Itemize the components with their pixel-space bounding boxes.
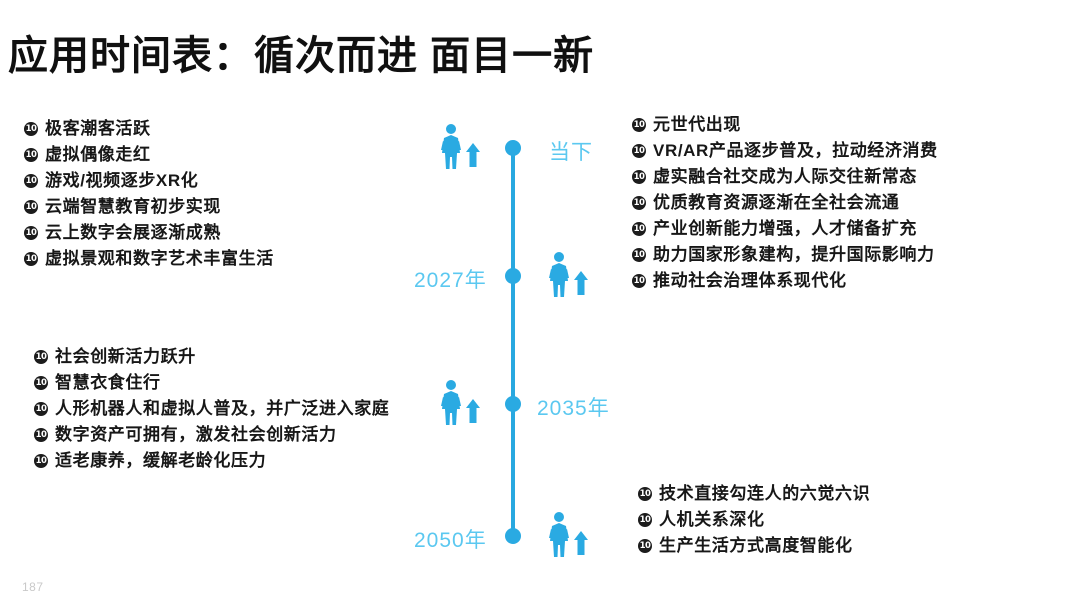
list-item: 10 产业创新能力增强，人才储备扩充 (632, 218, 938, 239)
list-item: 10 人形机器人和虚拟人普及，并广泛进入家庭 (34, 398, 389, 419)
numbered-bullet-icon: 10 (632, 170, 646, 184)
timeline-dot-3[interactable] (505, 396, 521, 412)
businessman-growth-icon (544, 511, 590, 559)
timeline-dot-1[interactable] (505, 140, 521, 156)
list-2035-era: 10 社会创新活力跃升 10 智慧衣食住行 10 人形机器人和虚拟人普及，并广泛… (34, 346, 389, 476)
list-item: 10 技术直接勾连人的六觉六识 (638, 483, 870, 504)
list-item-label: 虚实融合社交成为人际交往新常态 (653, 166, 917, 187)
list-item-label: 数字资产可拥有，激发社会创新活力 (55, 424, 337, 445)
numbered-bullet-icon: 10 (638, 513, 652, 527)
timeline-axis (511, 148, 515, 537)
timeline-label-2027: 2027年 (414, 264, 487, 294)
timeline-dot-4[interactable] (505, 528, 521, 544)
list-item-label: 技术直接勾连人的六觉六识 (659, 483, 870, 504)
list-item: 10 游戏/视频逐步XR化 (24, 170, 274, 191)
timeline-label-2050: 2050年 (414, 524, 487, 554)
list-item-label: 优质教育资源逐渐在全社会流通 (653, 192, 899, 213)
list-item: 10 优质教育资源逐渐在全社会流通 (632, 192, 938, 213)
list-item: 10 虚拟偶像走红 (24, 144, 274, 165)
list-item: 10 虚实融合社交成为人际交往新常态 (632, 166, 938, 187)
numbered-bullet-icon: 10 (24, 252, 38, 266)
numbered-bullet-icon: 10 (632, 248, 646, 262)
numbered-bullet-icon: 10 (24, 148, 38, 162)
list-item: 10 社会创新活力跃升 (34, 346, 389, 367)
list-item-label: 游戏/视频逐步XR化 (45, 170, 198, 191)
businessman-growth-icon (544, 251, 590, 299)
numbered-bullet-icon: 10 (638, 487, 652, 501)
list-item-label: 云上数字会展逐渐成熟 (45, 222, 221, 243)
list-item: 10 云端智慧教育初步实现 (24, 196, 274, 217)
list-item-label: 产业创新能力增强，人才储备扩充 (653, 218, 917, 239)
list-item-label: 人形机器人和虚拟人普及，并广泛进入家庭 (55, 398, 389, 419)
list-item-label: 智慧衣食住行 (55, 372, 161, 393)
page-title: 应用时间表：循次而进 面目一新 (8, 31, 594, 81)
list-item-label: 社会创新活力跃升 (55, 346, 196, 367)
list-item-label: VR/AR产品逐步普及，拉动经济消费 (653, 140, 938, 161)
list-2027-era: 10 元世代出现 10 VR/AR产品逐步普及，拉动经济消费 10 虚实融合社交… (632, 114, 938, 296)
numbered-bullet-icon: 10 (632, 274, 646, 288)
list-item-label: 虚拟偶像走红 (45, 144, 151, 165)
numbered-bullet-icon: 10 (34, 454, 48, 468)
list-item-label: 人机关系深化 (659, 509, 765, 530)
numbered-bullet-icon: 10 (34, 350, 48, 364)
numbered-bullet-icon: 10 (638, 539, 652, 553)
list-item: 10 助力国家形象建构，提升国际影响力 (632, 244, 938, 265)
numbered-bullet-icon: 10 (24, 226, 38, 240)
numbered-bullet-icon: 10 (24, 200, 38, 214)
list-item-label: 元世代出现 (653, 114, 741, 135)
timeline-dot-2[interactable] (505, 268, 521, 284)
list-item-label: 助力国家形象建构，提升国际影响力 (653, 244, 935, 265)
list-item-label: 推动社会治理体系现代化 (653, 270, 847, 291)
numbered-bullet-icon: 10 (24, 122, 38, 136)
list-item-label: 生产生活方式高度智能化 (659, 535, 853, 556)
list-current-era: 10 极客潮客活跃 10 虚拟偶像走红 10 游戏/视频逐步XR化 10 云端智… (24, 118, 274, 274)
list-item-label: 极客潮客活跃 (45, 118, 151, 139)
numbered-bullet-icon: 10 (34, 428, 48, 442)
list-item: 10 人机关系深化 (638, 509, 870, 530)
list-item: 10 VR/AR产品逐步普及，拉动经济消费 (632, 140, 938, 161)
numbered-bullet-icon: 10 (24, 174, 38, 188)
list-item-label: 云端智慧教育初步实现 (45, 196, 221, 217)
numbered-bullet-icon: 10 (632, 118, 646, 132)
numbered-bullet-icon: 10 (34, 376, 48, 390)
numbered-bullet-icon: 10 (632, 222, 646, 236)
list-item: 10 智慧衣食住行 (34, 372, 389, 393)
list-item: 10 适老康养，缓解老龄化压力 (34, 450, 389, 471)
list-item: 10 极客潮客活跃 (24, 118, 274, 139)
list-item: 10 元世代出现 (632, 114, 938, 135)
numbered-bullet-icon: 10 (632, 196, 646, 210)
timeline-label-now: 当下 (549, 136, 593, 166)
list-item: 10 生产生活方式高度智能化 (638, 535, 870, 556)
numbered-bullet-icon: 10 (632, 144, 646, 158)
list-item: 10 数字资产可拥有，激发社会创新活力 (34, 424, 389, 445)
list-item: 10 虚拟景观和数字艺术丰富生活 (24, 248, 274, 269)
list-item: 10 推动社会治理体系现代化 (632, 270, 938, 291)
slide-canvas: 应用时间表：循次而进 面目一新 当下 2027年 2035年 2050年 (0, 0, 1080, 607)
list-item-label: 虚拟景观和数字艺术丰富生活 (45, 248, 274, 269)
list-2050-era: 10 技术直接勾连人的六觉六识 10 人机关系深化 10 生产生活方式高度智能化 (638, 483, 870, 561)
businessman-growth-icon (436, 123, 482, 171)
list-item-label: 适老康养，缓解老龄化压力 (55, 450, 266, 471)
businessman-growth-icon (436, 379, 482, 427)
timeline-label-2035: 2035年 (537, 392, 610, 422)
list-item: 10 云上数字会展逐渐成熟 (24, 222, 274, 243)
numbered-bullet-icon: 10 (34, 402, 48, 416)
page-number: 187 (22, 580, 44, 594)
